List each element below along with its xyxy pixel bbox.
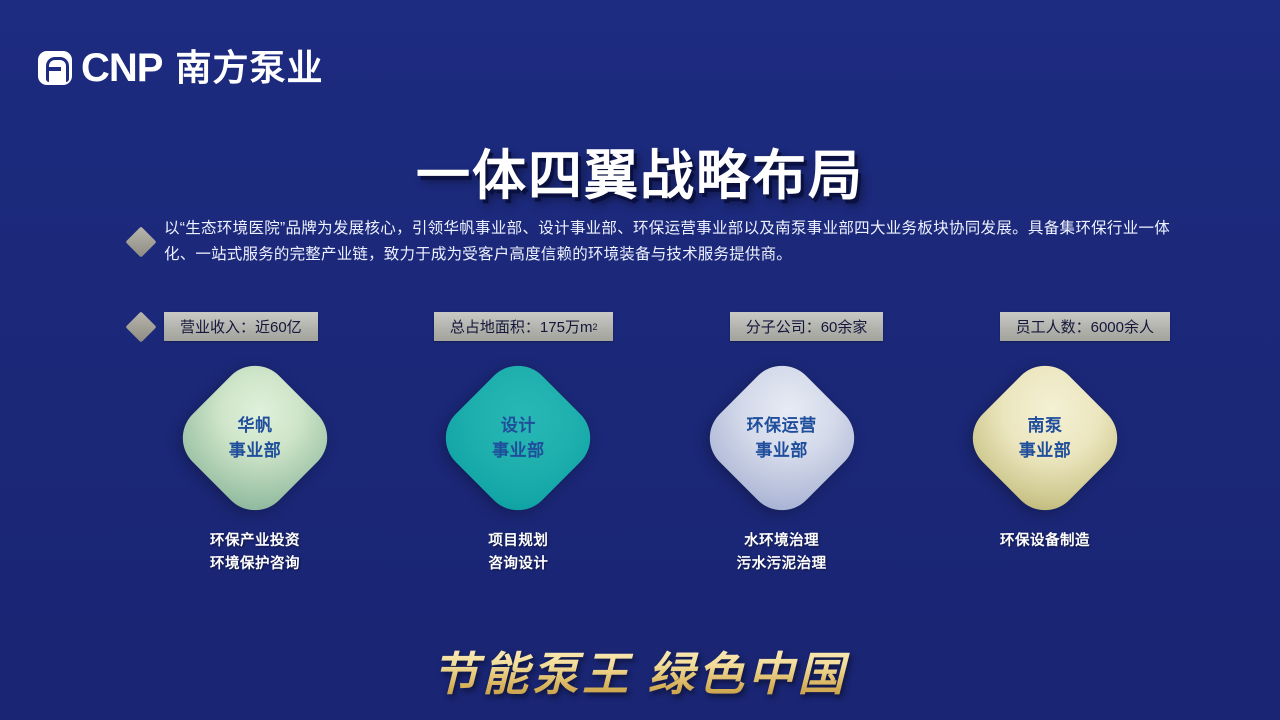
stat-box-revenue: 营业收入：近60亿 bbox=[164, 312, 318, 341]
pillar-caption-line2: 咨询设计 bbox=[488, 553, 548, 576]
pillar-diamond-wrap: 华帆 事业部 bbox=[175, 358, 335, 518]
pillar-caption-line1: 环保设备制造 bbox=[1000, 530, 1090, 553]
intro-block: 以“生态环境医院”品牌为发展核心，引领华帆事业部、设计事业部、环保运营事业部以及… bbox=[130, 216, 1170, 268]
stat-box-land-area: 总占地面积：175万m2 bbox=[434, 312, 614, 341]
stat-label: 营业收入：近60亿 bbox=[180, 316, 302, 337]
pillar-caption-line2: 环境保护咨询 bbox=[210, 553, 300, 576]
page-title: 一体四翼战略布局 bbox=[0, 131, 1280, 210]
pillars-row: 华帆 事业部 环保产业投资 环境保护咨询 设计 事业部 项目规划 咨询设计 bbox=[130, 358, 1170, 576]
pillar-name-line1: 设计 bbox=[501, 413, 536, 438]
brand-latin-name: CNP bbox=[81, 48, 162, 88]
stat-label: 员工人数：6000余人 bbox=[1016, 316, 1154, 337]
pillar-name-line2: 事业部 bbox=[492, 438, 545, 463]
pillar-design: 设计 事业部 项目规划 咨询设计 bbox=[393, 358, 643, 576]
pillar-name: 环保运营 事业部 bbox=[702, 358, 862, 518]
stat-box-employees: 员工人数：6000余人 bbox=[1000, 312, 1170, 341]
pillar-caption: 水环境治理 污水污泥治理 bbox=[737, 530, 827, 576]
cnp-logo-icon bbox=[38, 51, 72, 85]
pillar-caption-line1: 项目规划 bbox=[488, 530, 548, 553]
pillar-caption-line1: 水环境治理 bbox=[737, 530, 827, 553]
pillar-diamond-wrap: 南泵 事业部 bbox=[965, 358, 1125, 518]
pillar-diamond-wrap: 环保运营 事业部 bbox=[702, 358, 862, 518]
pillar-name: 南泵 事业部 bbox=[965, 358, 1125, 518]
stats-list: 营业收入：近60亿 总占地面积：175万m2 分子公司：60余家 员工人数：60… bbox=[164, 312, 1170, 341]
pillar-caption: 环保产业投资 环境保护咨询 bbox=[210, 530, 300, 576]
brand-chinese-name: 南方泵业 bbox=[175, 50, 323, 86]
intro-paragraph: 以“生态环境医院”品牌为发展核心，引领华帆事业部、设计事业部、环保运营事业部以及… bbox=[164, 216, 1170, 268]
pillar-name: 设计 事业部 bbox=[438, 358, 598, 518]
pillar-caption-line1: 环保产业投资 bbox=[210, 530, 300, 553]
diamond-bullet-icon bbox=[125, 226, 156, 257]
pillar-name-line1: 南泵 bbox=[1027, 413, 1062, 438]
pillar-name: 华帆 事业部 bbox=[175, 358, 335, 518]
diamond-bullet-icon bbox=[125, 311, 156, 342]
pillar-name-line2: 事业部 bbox=[1019, 438, 1072, 463]
brand-logo: CNP 南方泵业 bbox=[38, 48, 323, 88]
pillar-nanbeng: 南泵 事业部 环保设备制造 bbox=[920, 358, 1170, 576]
pillar-name-line2: 事业部 bbox=[755, 438, 808, 463]
stat-superscript: 2 bbox=[592, 322, 597, 332]
pillar-name-line1: 环保运营 bbox=[747, 413, 817, 438]
stat-box-subsidiaries: 分子公司：60余家 bbox=[730, 312, 884, 341]
pillar-caption-line2: 污水污泥治理 bbox=[737, 553, 827, 576]
pillar-name-line2: 事业部 bbox=[229, 438, 282, 463]
pillar-env-operation: 环保运营 事业部 水环境治理 污水污泥治理 bbox=[657, 358, 907, 576]
slide-canvas: CNP 南方泵业 一体四翼战略布局 以“生态环境医院”品牌为发展核心，引领华帆事… bbox=[0, 0, 1280, 720]
pillar-caption: 环保设备制造 bbox=[1000, 530, 1090, 553]
stats-block: 营业收入：近60亿 总占地面积：175万m2 分子公司：60余家 员工人数：60… bbox=[130, 312, 1170, 341]
bottom-slogan: 节能泵王 绿色中国 bbox=[0, 638, 1280, 704]
pillar-name-line1: 华帆 bbox=[238, 413, 273, 438]
pillar-diamond-wrap: 设计 事业部 bbox=[438, 358, 598, 518]
stat-label: 总占地面积：175万m bbox=[450, 316, 593, 337]
pillar-huafan: 华帆 事业部 环保产业投资 环境保护咨询 bbox=[130, 358, 380, 576]
pillar-caption: 项目规划 咨询设计 bbox=[488, 530, 548, 576]
stat-label: 分子公司：60余家 bbox=[746, 316, 868, 337]
